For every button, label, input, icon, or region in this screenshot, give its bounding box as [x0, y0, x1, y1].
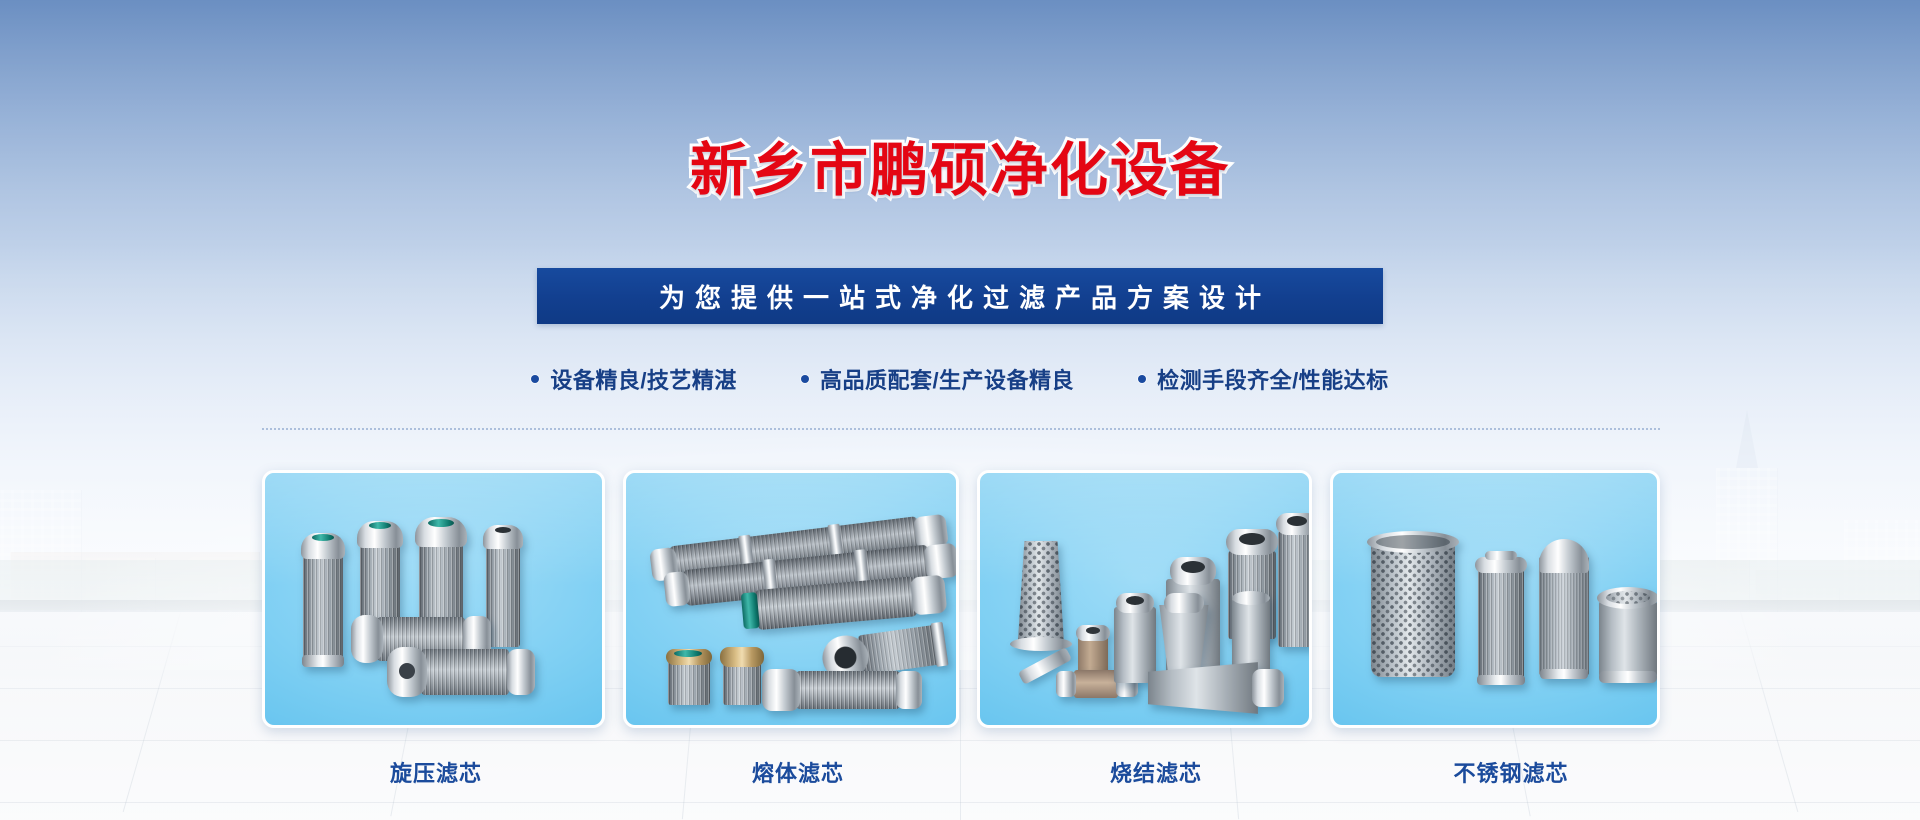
filter-element: [762, 669, 922, 711]
product-caption: 熔体滤芯: [628, 756, 968, 788]
feature-label: 检测手段齐全/性能达标: [1157, 363, 1389, 395]
product-card-melt[interactable]: [623, 470, 959, 728]
filter-element: [720, 639, 764, 707]
tagline-text: 为您提供一站式净化过滤产品方案设计: [649, 278, 1271, 315]
filter-element: [1367, 531, 1459, 683]
product-card-spin-on[interactable]: [262, 470, 605, 728]
filter-element: [666, 639, 712, 707]
feature-label: 设备精良/技艺精湛: [550, 363, 737, 395]
filter-element: [1597, 581, 1659, 687]
feature-label: 高品质配套/生产设备精良: [820, 363, 1074, 395]
bullet-dot-icon: [531, 375, 539, 383]
product-caption: 烧结滤芯: [986, 756, 1326, 788]
product-card-sintered[interactable]: [977, 470, 1313, 728]
filter-element: [1475, 545, 1527, 687]
product-card-stainless[interactable]: [1330, 470, 1660, 728]
feature-item: 设备精良/技艺精湛: [531, 363, 737, 395]
filter-element: [1148, 661, 1284, 715]
bullet-dot-icon: [801, 375, 809, 383]
feature-item: 高品质配套/生产设备精良: [801, 363, 1074, 395]
filter-element: [387, 645, 535, 699]
filter-element: [301, 521, 345, 669]
section-divider: [262, 428, 1660, 430]
filter-element: [1276, 505, 1313, 649]
product-card-row: [262, 470, 1660, 728]
feature-item: 检测手段齐全/性能达标: [1138, 363, 1389, 395]
page-title: 新乡市鹏硕净化设备: [0, 140, 1920, 202]
filter-element: [1010, 541, 1072, 663]
product-caption: 旋压滤芯: [262, 756, 610, 788]
filter-element: [1539, 539, 1589, 687]
bullet-dot-icon: [1138, 375, 1146, 383]
product-caption: 不锈钢滤芯: [1344, 756, 1678, 788]
feature-list: 设备精良/技艺精湛 高品质配套/生产设备精良 检测手段齐全/性能达标: [0, 363, 1920, 395]
tagline-banner: 为您提供一站式净化过滤产品方案设计: [537, 268, 1383, 324]
